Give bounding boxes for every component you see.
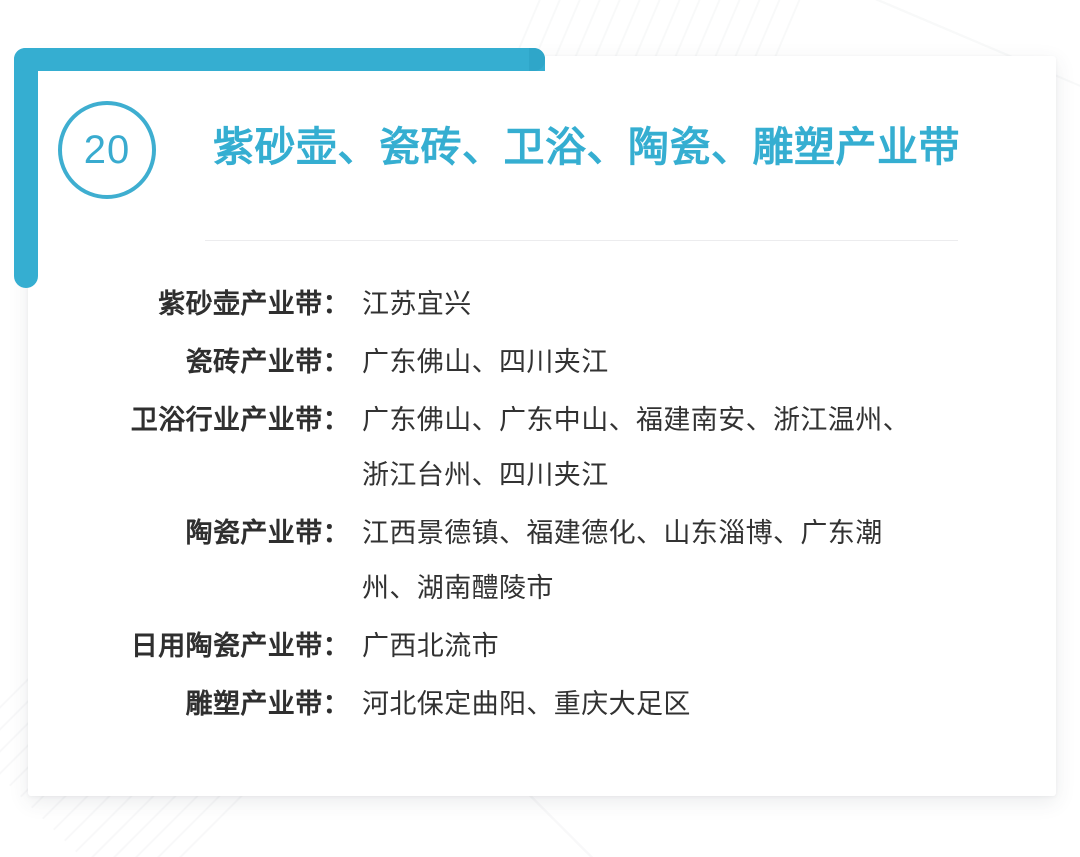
industry-belt-regions: 广东佛山、广东中山、福建南安、浙江温州、浙江台州、四川夹江 [350, 393, 1056, 503]
screenshot-root: 20 紫砂壶、瓷砖、卫浴、陶瓷、雕塑产业带 紫砂壶产业带：江苏宜兴瓷砖产业带：广… [0, 0, 1080, 857]
industry-belt-regions-line: 河北保定曲阳、重庆大足区 [362, 677, 1056, 732]
industry-belt-label: 瓷砖产业带： [28, 335, 350, 390]
page-title: 紫砂壶、瓷砖、卫浴、陶瓷、雕塑产业带 [213, 118, 1013, 177]
industry-belt-regions-line: 广东佛山、四川夹江 [362, 335, 1056, 390]
industry-belt-regions: 江苏宜兴 [350, 277, 1056, 332]
section-number-badge: 20 [58, 101, 156, 199]
industry-belt-regions: 广东佛山、四川夹江 [350, 335, 1056, 390]
industry-belt-list: 紫砂壶产业带：江苏宜兴瓷砖产业带：广东佛山、四川夹江卫浴行业产业带：广东佛山、广… [28, 277, 1056, 735]
industry-belt-regions-line: 浙江台州、四川夹江 [362, 448, 1056, 503]
industry-belt-label: 卫浴行业产业带： [28, 393, 350, 448]
industry-belt-regions-line: 广西北流市 [362, 619, 1056, 674]
industry-belt-label: 陶瓷产业带： [28, 506, 350, 561]
header-divider [205, 240, 958, 241]
industry-belt-row: 日用陶瓷产业带：广西北流市 [28, 619, 1056, 674]
industry-belt-label: 日用陶瓷产业带： [28, 619, 350, 674]
industry-belt-regions: 江西景德镇、福建德化、山东淄博、广东潮州、湖南醴陵市 [350, 506, 1056, 616]
industry-belt-row: 卫浴行业产业带：广东佛山、广东中山、福建南安、浙江温州、浙江台州、四川夹江 [28, 393, 1056, 503]
industry-belt-regions: 广西北流市 [350, 619, 1056, 674]
industry-belt-regions-line: 州、湖南醴陵市 [362, 561, 1056, 616]
section-number-label: 20 [62, 105, 152, 195]
industry-belt-label: 雕塑产业带： [28, 677, 350, 732]
industry-belt-label: 紫砂壶产业带： [28, 277, 350, 332]
industry-belt-row: 瓷砖产业带：广东佛山、四川夹江 [28, 335, 1056, 390]
industry-belt-regions-line: 广东佛山、广东中山、福建南安、浙江温州、 [362, 393, 1056, 448]
industry-belt-regions-line: 江苏宜兴 [362, 277, 1056, 332]
industry-belt-row: 紫砂壶产业带：江苏宜兴 [28, 277, 1056, 332]
industry-belt-regions: 河北保定曲阳、重庆大足区 [350, 677, 1056, 732]
industry-belt-row: 陶瓷产业带：江西景德镇、福建德化、山东淄博、广东潮州、湖南醴陵市 [28, 506, 1056, 616]
industry-belt-row: 雕塑产业带：河北保定曲阳、重庆大足区 [28, 677, 1056, 732]
card-header: 20 紫砂壶、瓷砖、卫浴、陶瓷、雕塑产业带 [28, 56, 1056, 240]
industry-belt-regions-line: 江西景德镇、福建德化、山东淄博、广东潮 [362, 506, 1056, 561]
